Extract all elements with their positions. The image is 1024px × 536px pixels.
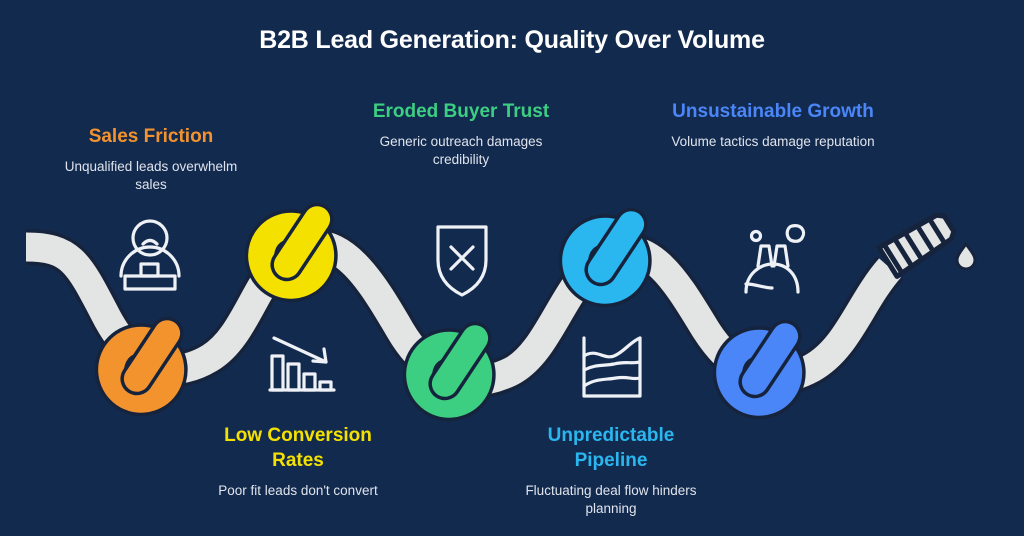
- description-unsustainable-growth: Volume tactics damage reputation: [654, 133, 892, 151]
- label-eroded-buyer-trust: Eroded Buyer Trust Generic outreach dama…: [368, 99, 554, 169]
- description-sales-friction: Unqualified leads overwhelm sales: [48, 158, 254, 194]
- description-eroded-buyer-trust: Generic outreach damages credibility: [368, 133, 554, 169]
- yellow-hose-kink: [251, 210, 341, 296]
- heading-unsustainable-growth: Unsustainable Growth: [654, 99, 892, 124]
- heading-low-conversion-rates: Low Conversion Rates: [196, 423, 400, 473]
- polluting-factory-icon: [746, 226, 804, 292]
- fluctuating-line-chart-icon: [584, 338, 640, 396]
- heading-eroded-buyer-trust: Eroded Buyer Trust: [368, 99, 554, 124]
- blue-hose-kink: [719, 327, 809, 413]
- cyan-hose-kink: [565, 215, 655, 301]
- label-unsustainable-growth: Unsustainable Growth Volume tactics dama…: [654, 99, 892, 151]
- label-low-conversion-rates: Low Conversion Rates Poor fit leads don'…: [196, 423, 400, 500]
- label-sales-friction: Sales Friction Unqualified leads overwhe…: [48, 124, 254, 194]
- water-droplet-icon: [957, 244, 975, 269]
- description-unpredictable-pipeline: Fluctuating deal flow hinders planning: [512, 482, 710, 518]
- heading-unpredictable-pipeline: Unpredictable Pipeline: [512, 423, 710, 473]
- frustrated-salesperson-icon: [121, 221, 179, 289]
- heading-sales-friction: Sales Friction: [48, 124, 254, 149]
- description-low-conversion-rates: Poor fit leads don't convert: [196, 482, 400, 500]
- label-unpredictable-pipeline: Unpredictable Pipeline Fluctuating deal …: [512, 423, 710, 518]
- infographic-canvas: B2B Lead Generation: Quality Over Volume: [0, 0, 1024, 536]
- declining-bar-chart-icon: [270, 338, 334, 390]
- shield-x-icon: [438, 227, 486, 295]
- green-hose-kink: [409, 329, 499, 415]
- hose-nozzle-icon: [879, 209, 958, 276]
- orange-hose-kink: [101, 324, 191, 410]
